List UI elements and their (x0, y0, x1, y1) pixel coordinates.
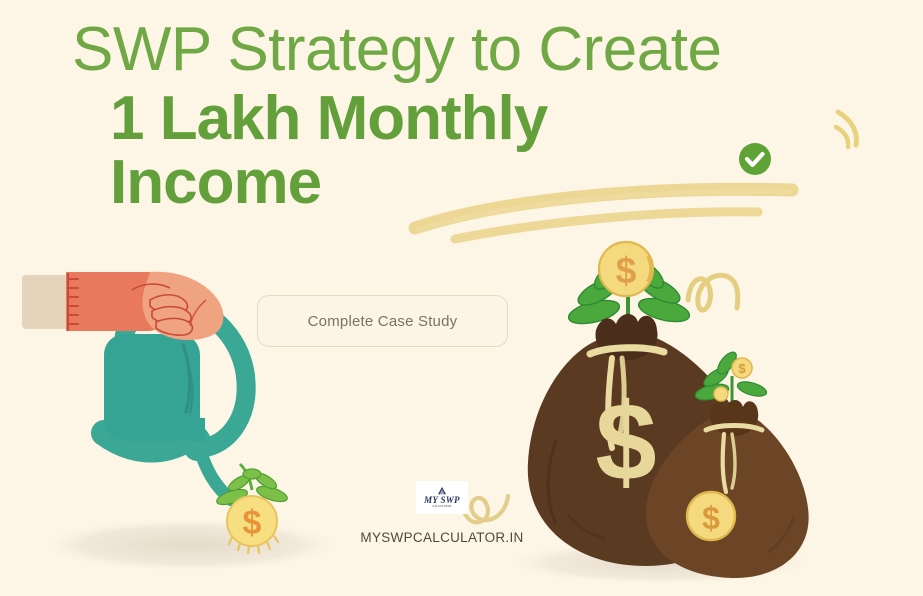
triangle-mountain-icon (437, 487, 447, 495)
headline-line-1: SWP Strategy to Create (72, 18, 872, 82)
headline-block: SWP Strategy to Create 1 Lakh Monthly In… (72, 18, 872, 214)
svg-text:$: $ (702, 500, 720, 536)
poster-canvas: $ $ (0, 0, 923, 596)
complete-case-study-button[interactable]: Complete Case Study (257, 295, 508, 347)
svg-text:$: $ (595, 381, 656, 504)
site-url-text: MYSWPCALCULATOR.IN (360, 530, 523, 545)
svg-text:$: $ (243, 504, 262, 542)
brand-block: MY SWP CALCULATOR MYSWPCALCULATOR.IN (362, 481, 522, 545)
headline-line-2: 1 Lakh Monthly (110, 88, 872, 150)
myswp-logo-subtext: CALCULATOR (432, 506, 451, 509)
svg-text:$: $ (616, 250, 637, 291)
ground-shadow-left (35, 518, 345, 572)
myswp-logo-text: MY SWP (424, 496, 460, 505)
bag-plant-large: $ (566, 242, 691, 340)
money-bags: $ $ (528, 242, 809, 578)
complete-case-study-label: Complete Case Study (308, 313, 458, 330)
headline-line-3: Income (110, 152, 872, 214)
ground-shadow-right (500, 541, 820, 585)
hand-watering-can (22, 272, 246, 500)
yellow-squiggle-right (688, 275, 738, 310)
myswp-logo: MY SWP CALCULATOR (416, 481, 468, 514)
bag-plant-small: $ (694, 349, 768, 408)
svg-text:$: $ (738, 361, 746, 376)
sprout-coin-left: $ (215, 464, 289, 553)
